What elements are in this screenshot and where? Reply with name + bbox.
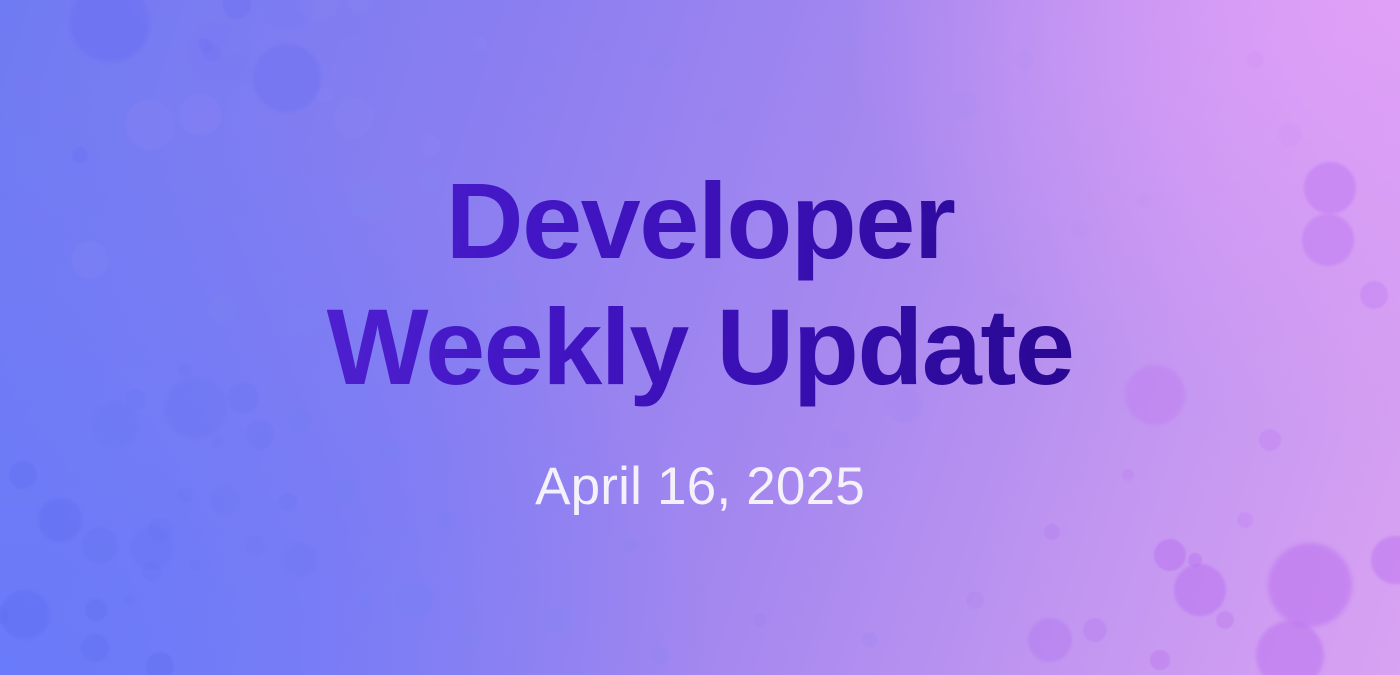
issue-date: April 16, 2025: [535, 410, 865, 517]
weekly-update-banner: Developer Weekly Update April 16, 2025: [0, 0, 1400, 675]
page-title: Developer Weekly Update: [327, 158, 1074, 411]
page-title-line-2: Weekly Update: [327, 284, 1074, 410]
page-title-line-1: Developer: [327, 158, 1074, 284]
banner-content: Developer Weekly Update April 16, 2025: [0, 0, 1400, 675]
